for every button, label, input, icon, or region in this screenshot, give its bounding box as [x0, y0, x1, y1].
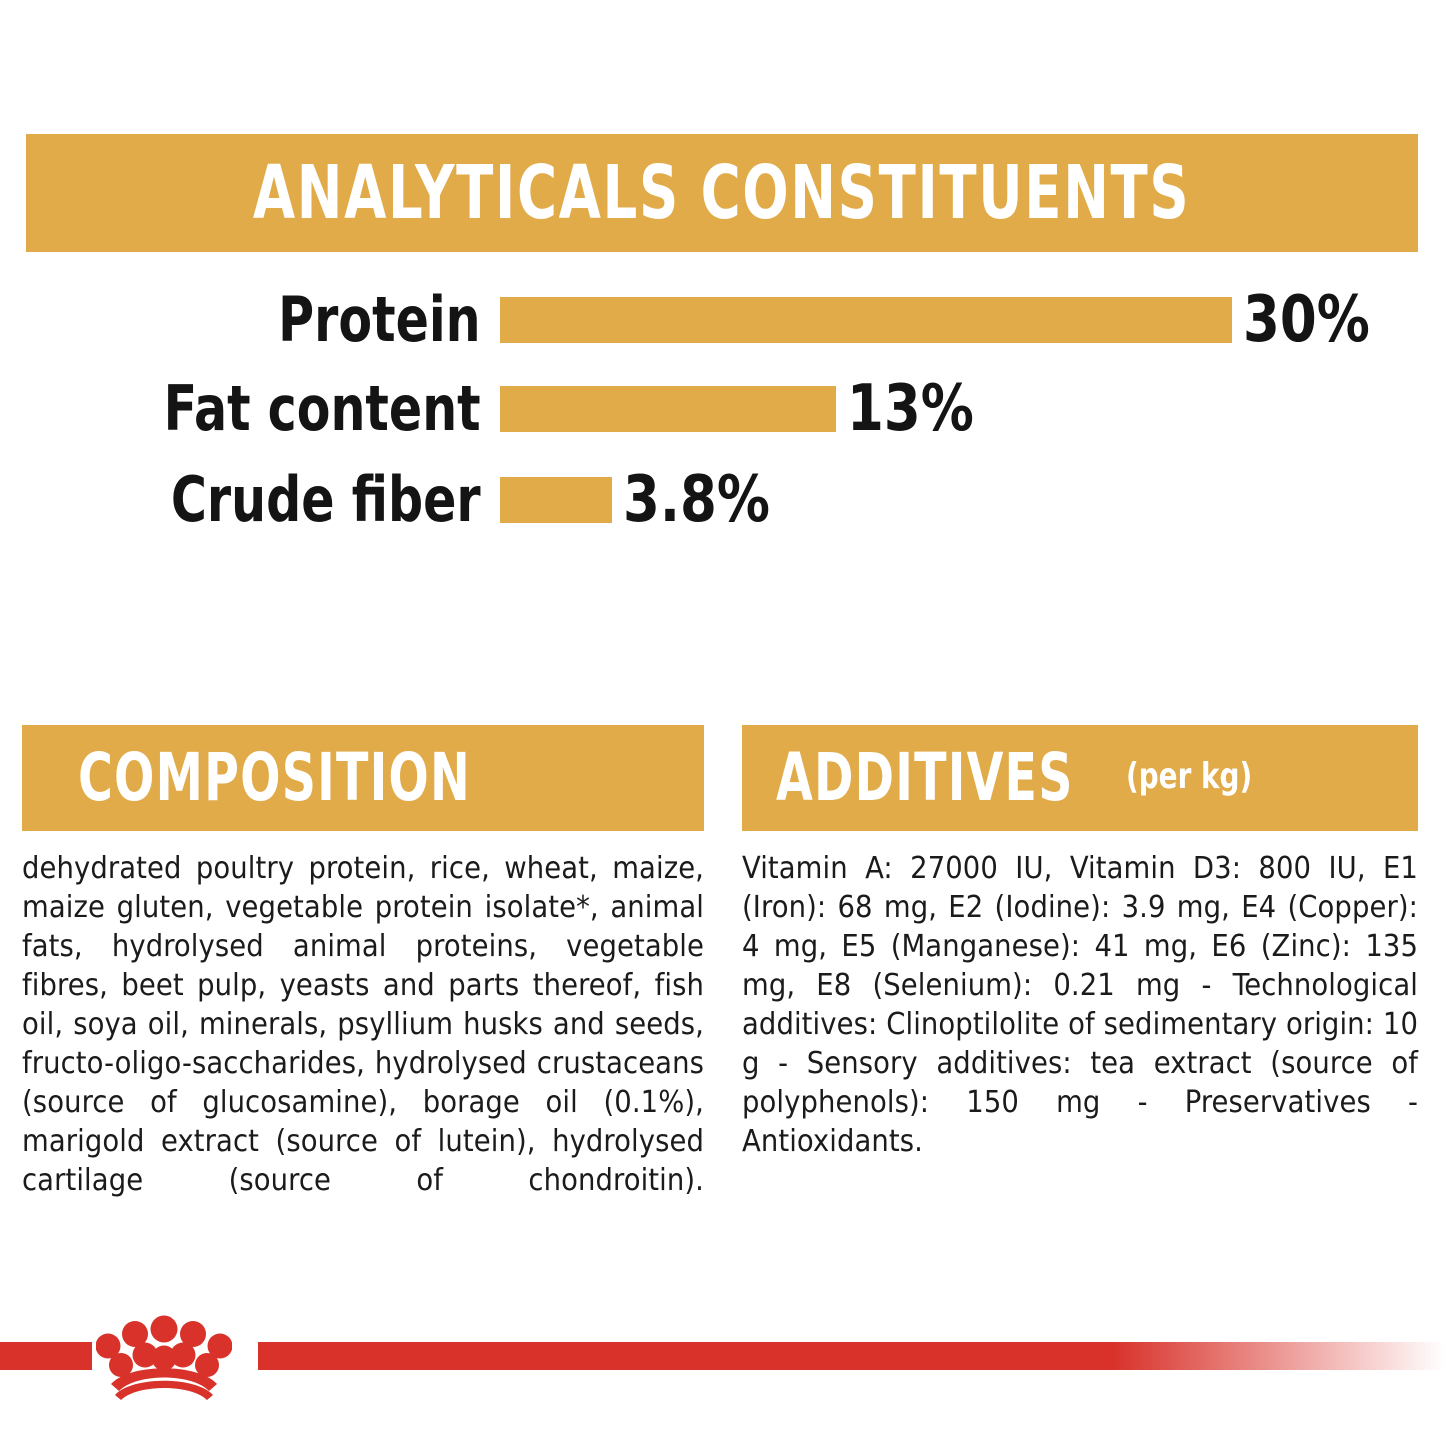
analyticals-bar-chart: Protein 30% Fat content 13% Crude fiber …	[0, 288, 1445, 558]
chart-bar	[500, 297, 1232, 343]
footer-rule-right	[258, 1342, 1445, 1370]
chart-category-label: Crude fiber	[60, 469, 500, 531]
analyticals-constituents-banner: ANALYTICALS CONSTITUENTS	[26, 134, 1418, 252]
additives-heading: ADDITIVES	[776, 745, 1074, 811]
additives-text: Vitamin A: 27000 IU, Vitamin D3: 800 IU,…	[742, 849, 1418, 1200]
composition-section: COMPOSITION dehydrated poultry protein, …	[22, 725, 704, 1239]
composition-heading: COMPOSITION	[78, 745, 471, 811]
additives-banner: ADDITIVES (per kg)	[742, 725, 1418, 831]
footer-rule-left	[0, 1342, 92, 1370]
royal-canin-crown-icon	[96, 1312, 232, 1402]
chart-value-label: 30%	[1232, 288, 1370, 352]
chart-value-label: 13%	[836, 377, 974, 441]
chart-value-label: 3.8%	[612, 468, 770, 532]
page-title: ANALYTICALS CONSTITUENTS	[253, 156, 1190, 230]
footer-logo-bar	[0, 1300, 1445, 1445]
chart-row: Protein 30%	[0, 288, 1445, 352]
composition-text: dehydrated poultry protein, rice, wheat,…	[22, 849, 704, 1239]
chart-row: Fat content 13%	[0, 377, 1445, 441]
additives-unit-note: (per kg)	[1126, 756, 1252, 801]
chart-category-label: Protein	[60, 289, 500, 351]
additives-section: ADDITIVES (per kg) Vitamin A: 27000 IU, …	[742, 725, 1418, 1200]
composition-banner: COMPOSITION	[22, 725, 704, 831]
chart-bar	[500, 477, 612, 523]
chart-bar	[500, 386, 836, 432]
chart-category-label: Fat content	[60, 378, 500, 440]
chart-row: Crude fiber 3.8%	[0, 468, 1445, 532]
